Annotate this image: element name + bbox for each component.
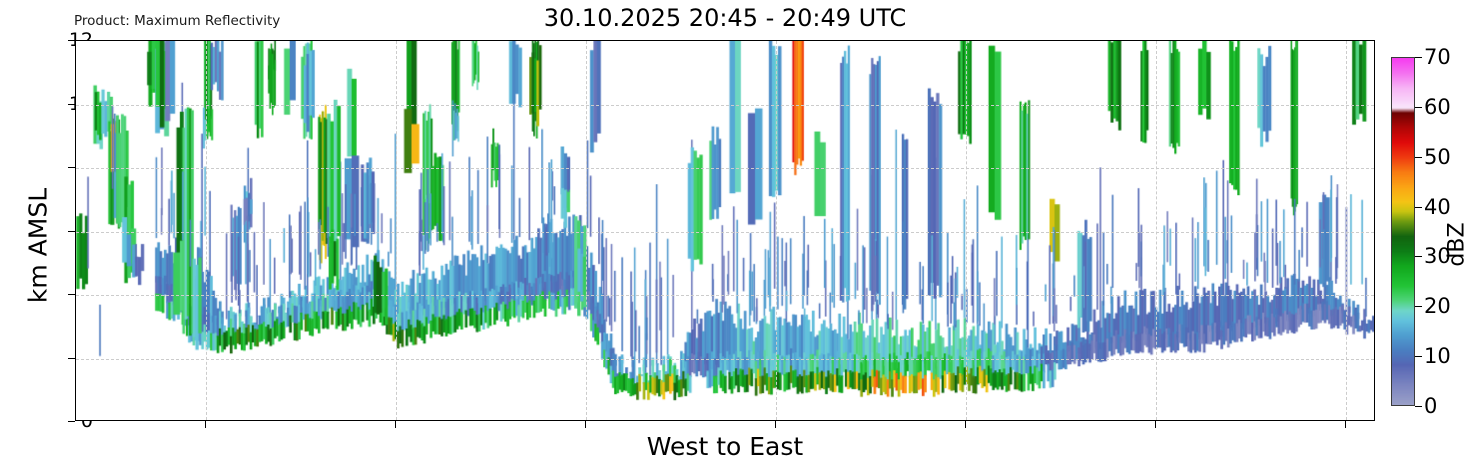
- colorbar-tick-label: 10: [1424, 344, 1451, 368]
- reflectivity-heatmap-canvas: [76, 41, 1374, 420]
- x-tick-mark: [395, 421, 396, 428]
- y-tick-mark: [68, 421, 75, 422]
- colorbar-tick-mark: [1415, 207, 1422, 208]
- colorbar-tick-label: 50: [1424, 145, 1451, 169]
- colorbar-tick-label: 70: [1424, 45, 1451, 69]
- y-tick-mark: [68, 231, 75, 232]
- x-tick-mark: [1345, 421, 1346, 428]
- radar-reflectivity-figure: 30.10.2025 20:45 - 20:49 UTC Product: Ma…: [0, 0, 1482, 470]
- y-axis-label: km AMSL: [24, 116, 53, 376]
- x-tick-mark: [205, 421, 206, 428]
- colorbar-tick-label: 60: [1424, 95, 1451, 119]
- x-axis-label: West to East: [75, 432, 1375, 461]
- colorbar-tick-label: 0: [1424, 394, 1437, 418]
- colorbar-tick-mark: [1415, 356, 1422, 357]
- x-tick-mark: [965, 421, 966, 428]
- colorbar: [1391, 57, 1415, 406]
- colorbar-tick-mark: [1415, 157, 1422, 158]
- y-tick-mark: [68, 104, 75, 105]
- y-tick-mark: [68, 294, 75, 295]
- y-tick-mark: [68, 358, 75, 359]
- colorbar-gradient: [1391, 57, 1415, 406]
- y-tick-mark: [68, 167, 75, 168]
- colorbar-tick-mark: [1415, 306, 1422, 307]
- colorbar-unit-label: dBZ: [1445, 185, 1470, 305]
- x-tick-mark: [1155, 421, 1156, 428]
- colorbar-tick-mark: [1415, 406, 1422, 407]
- x-tick-mark: [775, 421, 776, 428]
- product-label: Product: Maximum Reflectivity: [74, 13, 280, 29]
- colorbar-tick-mark: [1415, 107, 1422, 108]
- y-tick-mark: [68, 40, 75, 41]
- colorbar-tick-mark: [1415, 256, 1422, 257]
- plot-area[interactable]: [75, 40, 1375, 421]
- colorbar-tick-mark: [1415, 57, 1422, 58]
- x-tick-mark: [585, 421, 586, 428]
